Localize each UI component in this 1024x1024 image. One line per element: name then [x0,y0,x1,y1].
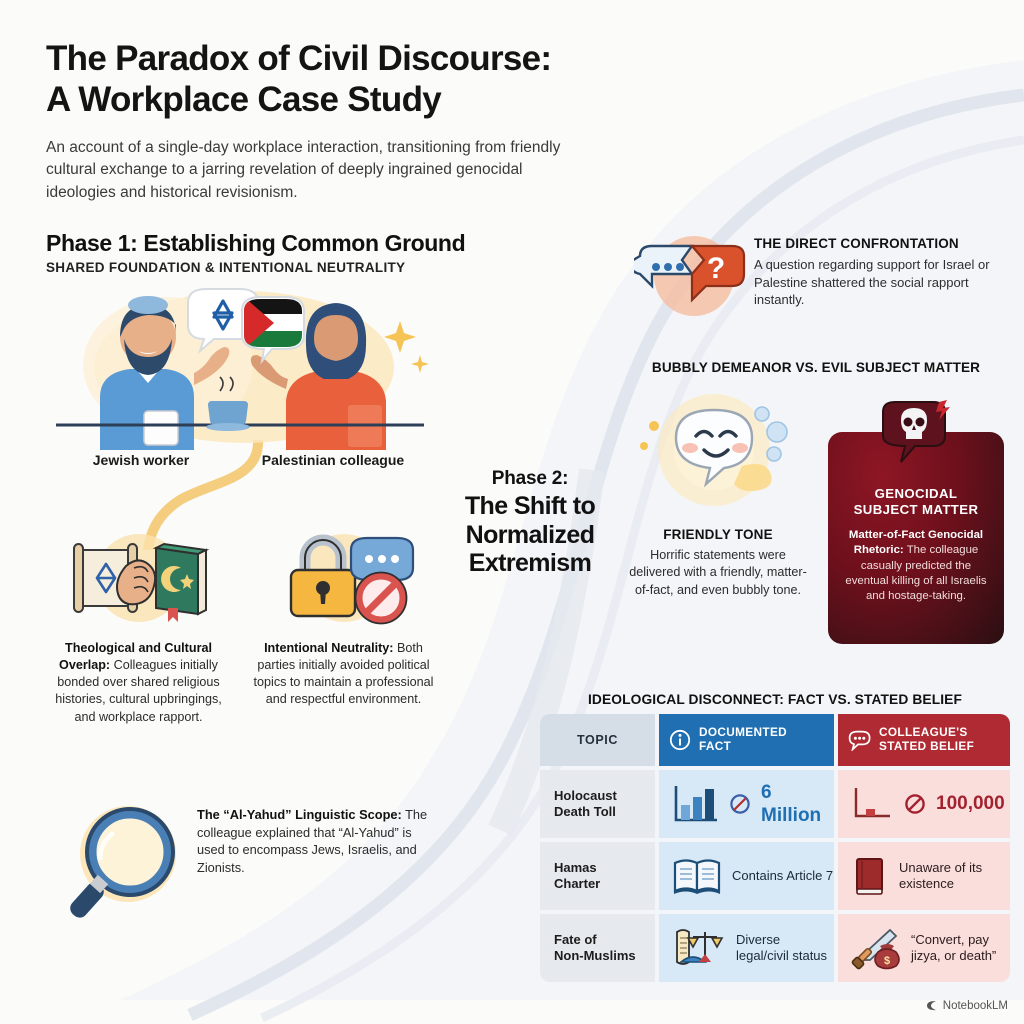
genocidal-card-body: Matter-of-Fact Genocidal Rhetoric: The c… [840,528,992,604]
row3-topic-line2: Non-Muslims [554,948,636,964]
prohibition-icon [903,792,927,816]
speech-bubble-dots-icon [848,730,871,751]
row2-fact-cell: Contains Article 7 [659,842,834,910]
phase1-title: Phase 1: Establishing Common Ground [46,230,465,257]
row2-belief-value: Unaware of its existence [899,860,1010,892]
tiny-bar-chart-icon [850,784,894,824]
page-title: The Paradox of Civil Discourse: A Workpl… [46,38,626,121]
friendly-tone-title: FRIENDLY TONE [622,527,814,542]
comparison-table: TOPIC DOCUMENTED FACT COLLEAGUE [540,714,1010,986]
header-fact-line2: FACT [699,740,787,754]
row2-fact-value: Contains Article 7 [732,868,833,884]
phase1-points: Theological and Cultural Overlap: Collea… [36,520,446,726]
info-circle-icon [669,729,691,751]
header-belief-line2: STATED BELIEF [879,740,974,754]
header-belief-label: COLLEAGUE'S STATED BELIEF [879,726,974,754]
row1-topic-line1: Holocaust [554,788,617,804]
page-subtitle: An account of a single-day workplace int… [46,137,566,204]
row2-topic-line2: Charter [554,876,600,892]
table-row: Holocaust Death Toll [540,770,1010,838]
scroll-scales-icon [671,926,727,970]
table-header-row: TOPIC DOCUMENTED FACT COLLEAGUE [540,714,1010,766]
skull-speech-bubble-icon [879,400,953,466]
al-yahud-scope-block: The “Al-Yahud” Linguistic Scope: The col… [52,792,442,932]
row3-fact-value: Diverse legal/civil status [736,932,834,964]
comparison-heading: IDEOLOGICAL DISCONNECT: FACT VS. STATED … [540,692,1010,707]
row-topic-hamas-charter: Hamas Charter [540,842,655,910]
watermark-label: NotebookLM [943,1000,1008,1012]
header-stated-belief: COLLEAGUE'S STATED BELIEF [838,714,1010,766]
closed-book-icon [850,855,890,897]
phase1-subtitle: SHARED FOUNDATION & INTENTIONAL NEUTRALI… [46,260,465,275]
row3-belief-value: “Convert, pay jizya, or death” [911,932,1010,964]
friendly-tone-body: Horrific statements were delivered with … [622,547,814,599]
notebooklm-watermark: NotebookLM [925,999,1008,1012]
infographic-canvas: The Paradox of Civil Discourse: A Workpl… [0,0,1024,1024]
svg-text:$: $ [884,955,890,967]
no-symbol-overlay-icon [728,792,752,816]
bar-chart-icon [671,783,719,825]
contrast-heading: BUBBLY DEMEANOR VS. EVIL SUBJECT MATTER [624,360,1008,375]
row-topic-holocaust: Holocaust Death Toll [540,770,655,838]
smiling-speech-bubble-icon [630,388,806,518]
sword-moneybag-icon: $ [850,926,902,970]
row3-fact-cell: Diverse legal/civil status [659,914,834,982]
page-title-line1: The Paradox of Civil Discourse: [46,38,626,79]
al-yahud-lead: The “Al-Yahud” Linguistic Scope: [197,807,402,822]
point-intentional-neutrality: Intentional Neutrality: Both parties ini… [241,520,446,726]
genocidal-title-line2: SUBJECT MATTER [840,502,992,518]
magnifying-glass-icon [52,792,197,932]
direct-confrontation-body: A question regarding support for Israel … [754,256,1004,309]
colleagues-illustration [48,285,432,450]
phase2-heading: Phase 2: The Shift to Normalized Extremi… [440,468,620,578]
direct-confrontation-text: THE DIRECT CONFRONTATION A question rega… [754,228,1004,323]
table-row: Hamas Charter Contains Article 7 [540,842,1010,910]
point-neutrality-lead: Intentional Neutrality: [264,641,393,655]
svg-text:?: ? [707,252,725,285]
phase2-label: Phase 2: [440,468,620,490]
header-documented-fact: DOCUMENTED FACT [659,714,834,766]
row1-fact-value: 6 Million [761,781,834,827]
row1-belief-cell: 100,000 [838,770,1010,838]
open-book-icon [671,855,723,897]
phase1-heading: Phase 1: Establishing Common Ground SHAR… [46,230,465,275]
point-theological-overlap: Theological and Cultural Overlap: Collea… [36,520,241,726]
direct-confrontation-block: ? THE DIRECT CONFRONTATION A question re… [634,228,1004,323]
caption-jewish-worker: Jewish worker [48,452,234,468]
al-yahud-text: The “Al-Yahud” Linguistic Scope: The col… [197,792,442,932]
header-fact-line1: DOCUMENTED [699,726,787,740]
padlock-speech-prohibition-icon [269,520,419,632]
caption-palestinian-colleague: Palestinian colleague [234,452,432,468]
page-header: The Paradox of Civil Discourse: A Workpl… [46,38,626,204]
torah-handshake-quran-icon [64,520,214,632]
header-topic: TOPIC [540,714,655,766]
row-topic-fate-non-muslims: Fate of Non-Muslims [540,914,655,982]
row1-belief-value: 100,000 [936,792,1005,815]
table-row: Fate of Non-Muslims [540,914,1010,982]
row3-belief-cell: $ “Convert, pay jizya, or death” [838,914,1010,982]
direct-confrontation-title: THE DIRECT CONFRONTATION [754,236,1004,251]
two-speech-bubbles-question-icon: ? [634,228,754,323]
header-fact-label: DOCUMENTED FACT [699,726,787,754]
friendly-tone-block: FRIENDLY TONE Horrific statements were d… [622,388,814,599]
illustration-captions: Jewish worker Palestinian colleague [48,452,432,468]
page-title-line2: A Workplace Case Study [46,79,626,120]
notebooklm-logo-icon [925,999,938,1012]
genocidal-card-title: GENOCIDAL SUBJECT MATTER [840,486,992,518]
row3-topic-line1: Fate of [554,932,636,948]
prohibition-icon [355,573,406,624]
row1-topic-line2: Death Toll [554,804,617,820]
point-neutrality-text: Intentional Neutrality: Both parties ini… [241,640,446,709]
row2-topic-line1: Hamas [554,860,600,876]
header-belief-line1: COLLEAGUE'S [879,726,974,740]
row1-fact-cell: 6 Million [659,770,834,838]
phase2-title: The Shift to Normalized Extremism [440,492,620,578]
genocidal-subject-card: GENOCIDAL SUBJECT MATTER Matter-of-Fact … [828,432,1004,644]
genocidal-title-line1: GENOCIDAL [840,486,992,502]
row2-belief-cell: Unaware of its existence [838,842,1010,910]
point-theological-text: Theological and Cultural Overlap: Collea… [36,640,241,726]
